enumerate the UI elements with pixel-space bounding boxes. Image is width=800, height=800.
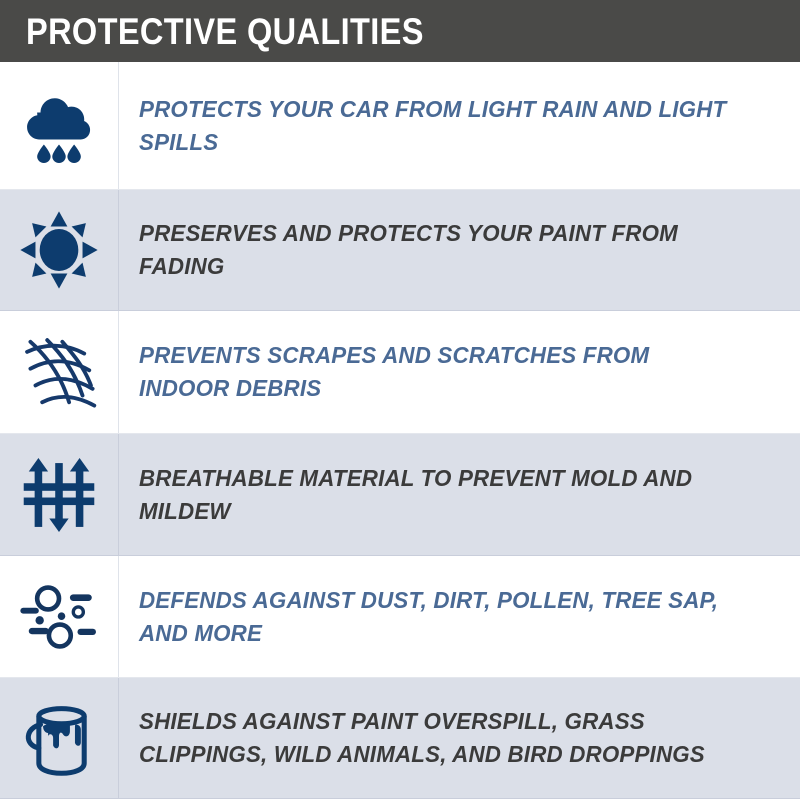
feature-list: PROTECTS YOUR CAR FROM LIGHT RAIN AND LI… — [0, 62, 800, 800]
icon-cell — [0, 311, 118, 433]
icon-cell — [0, 190, 118, 310]
cloud-rain-icon — [17, 84, 101, 168]
list-item: SHIELDS AGAINST PAINT OVERSPILL, GRASS C… — [0, 678, 800, 799]
icon-cell — [0, 678, 118, 798]
list-item: PRESERVES AND PROTECTS YOUR PAINT FROM F… — [0, 190, 800, 311]
text-cell: DEFENDS AGAINST DUST, DIRT, POLLEN, TREE… — [118, 556, 800, 677]
icon-cell — [0, 556, 118, 677]
header-bar: PROTECTIVE QUALITIES — [0, 0, 800, 62]
text-cell: PRESERVES AND PROTECTS YOUR PAINT FROM F… — [118, 190, 800, 310]
list-item-label: PRESERVES AND PROTECTS YOUR PAINT FROM F… — [139, 217, 740, 283]
list-item-label: DEFENDS AGAINST DUST, DIRT, POLLEN, TREE… — [139, 584, 740, 650]
paint-can-icon — [17, 696, 101, 780]
dust-particles-icon — [17, 575, 101, 659]
woven-mesh-icon — [17, 330, 101, 414]
list-item-label: SHIELDS AGAINST PAINT OVERSPILL, GRASS C… — [139, 705, 740, 771]
page-title: PROTECTIVE QUALITIES — [26, 13, 424, 50]
text-cell: BREATHABLE MATERIAL TO PREVENT MOLD AND … — [118, 434, 800, 555]
icon-cell — [0, 434, 118, 555]
text-cell: PROTECTS YOUR CAR FROM LIGHT RAIN AND LI… — [118, 62, 800, 189]
icon-cell — [0, 62, 118, 189]
list-item: BREATHABLE MATERIAL TO PREVENT MOLD AND … — [0, 434, 800, 556]
list-item-label: PROTECTS YOUR CAR FROM LIGHT RAIN AND LI… — [139, 93, 740, 159]
list-item-label: BREATHABLE MATERIAL TO PREVENT MOLD AND … — [139, 462, 740, 528]
list-item: PREVENTS SCRAPES AND SCRATCHES FROM INDO… — [0, 311, 800, 434]
sun-icon — [17, 208, 101, 292]
breathable-arrows-icon — [17, 453, 101, 537]
text-cell: SHIELDS AGAINST PAINT OVERSPILL, GRASS C… — [118, 678, 800, 798]
protective-qualities-infographic: PROTECTIVE QUALITIES PROTEC — [0, 0, 800, 800]
list-item-label: PREVENTS SCRAPES AND SCRATCHES FROM INDO… — [139, 339, 740, 405]
text-cell: PREVENTS SCRAPES AND SCRATCHES FROM INDO… — [118, 311, 800, 433]
list-item: DEFENDS AGAINST DUST, DIRT, POLLEN, TREE… — [0, 556, 800, 678]
list-item: PROTECTS YOUR CAR FROM LIGHT RAIN AND LI… — [0, 62, 800, 190]
